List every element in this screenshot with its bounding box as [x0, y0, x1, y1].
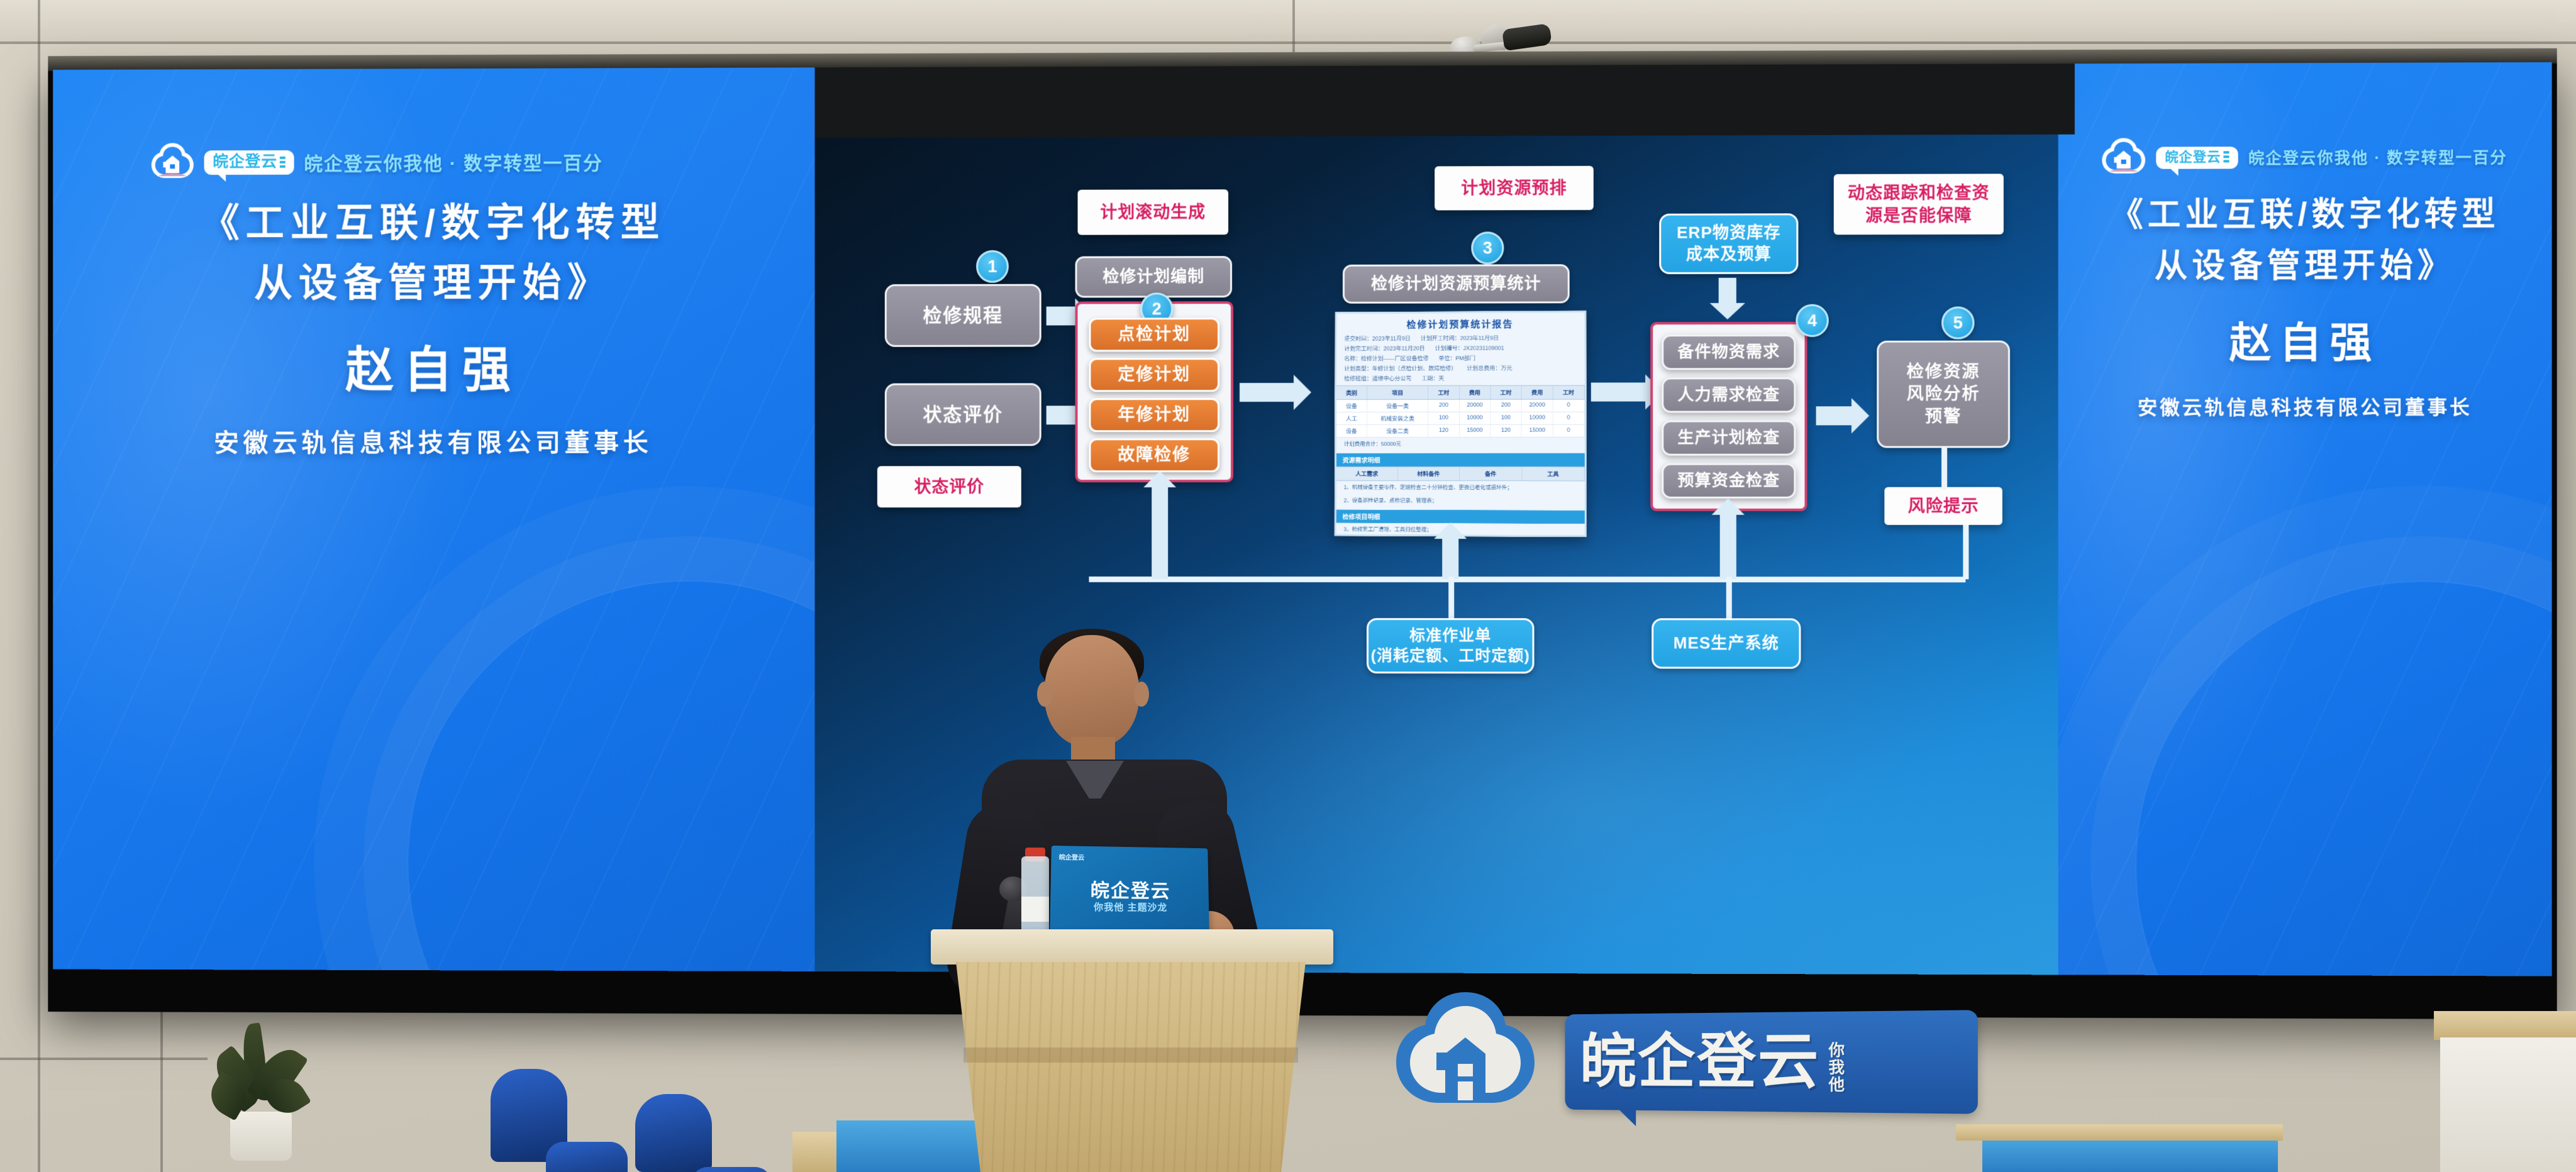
report-col-header: 工时: [1491, 386, 1522, 399]
report-cell: 人工: [1336, 412, 1367, 424]
plan-item-2[interactable]: 年修计划: [1089, 398, 1219, 432]
brand-logo-text: 皖企登云: [213, 153, 277, 170]
report-meta: 计划类型：年修计划（点检计划、故障检修）: [1344, 364, 1457, 373]
plant-pot: [230, 1112, 292, 1161]
left-speaker-org: 安徽云轨信息科技有限公司董事长: [53, 423, 814, 459]
arrow-assessment-to-plan: [1046, 406, 1077, 424]
report-sub-header: 人工需求: [1336, 467, 1398, 480]
cloud-house-logo-icon: [1390, 986, 1541, 1134]
chair-seat: [691, 1167, 772, 1172]
report-cell: 100: [1491, 412, 1522, 424]
report-band-resource: 资源需求明细: [1336, 453, 1585, 466]
report-cell: 100: [1428, 412, 1459, 424]
water-bottle-label: [1021, 897, 1049, 922]
chair-backrest: [635, 1094, 712, 1172]
stage-sign-side-text: 你我他: [1827, 1041, 1844, 1093]
brand-logo-pill: 皖企登云: [2156, 146, 2238, 169]
stage-sign-plate: 皖企登云 你我他: [1565, 1010, 1977, 1114]
stage-sign-main-text: 皖企登云: [1580, 1031, 1820, 1092]
report-note: 1、机械设备主要零件、定期检查二十分钟检查、更换已老化或损坏件；: [1336, 480, 1585, 495]
check-item-0[interactable]: 备件物资需求: [1662, 334, 1796, 370]
presenter-head: [1045, 635, 1139, 747]
report-sub-header: 备件: [1460, 467, 1522, 480]
report-cell: 120: [1428, 425, 1459, 437]
right-panel-logo-bar: 皖企登云 皖企登云你我他 · 数字转型一百分: [2101, 137, 2507, 177]
report-meta-list: 提交时间：2023年11月9日 计划开工时间：2023年11月9日 计划完工时间…: [1336, 333, 1584, 385]
report-meta: 计划开工时间：2023年11月9日: [1421, 334, 1499, 343]
right-title-line2: 从设备管理开始》: [2058, 240, 2552, 292]
report-meta: 计划总费用：万元: [1467, 364, 1512, 372]
podium-trim-band: [963, 1048, 1298, 1063]
podium-top-surface: [931, 929, 1333, 965]
laptop-title: 皖企登云: [1050, 875, 1209, 904]
right-panel-headline: 《工业互联/数字化转型 从设备管理开始》 赵自强 安徽云轨信息科技有限公司董事长: [2058, 189, 2552, 421]
report-column-headers: 类别 项目 工时 费用 工时 费用 工时: [1336, 385, 1584, 400]
step-5-badge: 5: [1941, 306, 1974, 339]
presenter-ear: [1134, 682, 1149, 707]
report-col-header: 工时: [1553, 385, 1585, 399]
table-row: 人工 机械安装之类 100 10000 100 10000 0: [1336, 412, 1585, 425]
callout-dynamic-tracking: 动态跟踪和检查资 源是否能保障: [1834, 174, 2004, 235]
laptop-logo-text: 皖企登云: [1059, 852, 1085, 861]
arrow-rules-to-plan: [1046, 307, 1077, 326]
report-cell: 设备一类: [1367, 400, 1428, 412]
report-meta: 单位：PM部门: [1438, 354, 1475, 362]
report-total: 计划费用合计：50000元: [1336, 438, 1585, 451]
node-plan-compilation[interactable]: 检修计划编制: [1075, 256, 1233, 297]
report-cell: 0: [1553, 425, 1585, 437]
report-cell: 10000: [1522, 412, 1553, 424]
report-meta: 计划完工时间：2023年11月20日: [1344, 344, 1424, 352]
arrow-budget-to-check: [1591, 382, 1646, 401]
risk-connector-stem: [1941, 448, 1947, 489]
report-meta: 名称：检修计划——厂区设备检修: [1344, 354, 1428, 362]
report-cell: 200: [1428, 400, 1459, 412]
left-panel-headline: 《工业互联/数字化转型 从设备管理开始》 赵自强 安徽云轨信息科技有限公司董事长: [53, 193, 814, 460]
podium-front-panel: [956, 962, 1306, 1172]
report-cell: 120: [1491, 425, 1522, 437]
presenter-ear: [1037, 682, 1052, 707]
report-sub-header: 材料备件: [1398, 467, 1460, 480]
brand-tagline: 皖企登云你我他 · 数字转型一百分: [2248, 145, 2507, 169]
report-col-header: 费用: [1522, 385, 1553, 399]
node-condition-assessment[interactable]: 状态评价: [885, 383, 1041, 446]
slide-topbar: [814, 64, 2074, 138]
left-panel-logo-bar: 皖企登云 皖企登云你我他 · 数字转型一百分: [151, 142, 603, 182]
arrow-erp-to-check: [1719, 278, 1736, 304]
rail-stem-right: [1963, 525, 1968, 579]
conference-hall-scene: 皖企登云 皖企登云你我他 · 数字转型一百分 《工业互联/数字化转型 从设备管理…: [0, 0, 2576, 1172]
presenter-laptop[interactable]: 皖企登云 皖企登云 你我他 主题沙龙: [1050, 846, 1209, 936]
report-cell: 设备二类: [1367, 425, 1428, 437]
report-cell: 0: [1553, 399, 1585, 411]
node-risk-analysis[interactable]: 检修资源 风险分析 预警: [1877, 341, 2010, 448]
report-cell: 0: [1553, 412, 1585, 424]
table-row: 设备 设备一类 200 20000 200 20000 0: [1336, 399, 1584, 412]
side-desk: [2434, 1011, 2576, 1040]
plan-item-0[interactable]: 点检计划: [1089, 318, 1219, 351]
report-col-header: 费用: [1460, 386, 1491, 399]
laptop-subtitle: 你我他 主题沙龙: [1050, 900, 1209, 914]
callout-risk-alert: 风险提示: [1884, 487, 2002, 525]
node-budget-statistics[interactable]: 检修计划资源预算统计: [1343, 264, 1570, 304]
led-video-wall: 皖企登云 皖企登云你我他 · 数字转型一百分 《工业互联/数字化转型 从设备管理…: [48, 62, 2557, 1019]
right-speaker-name: 赵自强: [2058, 309, 2552, 370]
arrow-check-to-risk: [1816, 406, 1853, 425]
report-band-items: 检修项目明细: [1336, 509, 1585, 523]
report-meta: 提交时间：2023年11月9日: [1344, 334, 1411, 342]
front-desk-panel: [1982, 1136, 2278, 1172]
video-wall-screen: 皖企登云 皖企登云你我他 · 数字转型一百分 《工业互联/数字化转型 从设备管理…: [53, 62, 2551, 976]
ceiling: [0, 0, 2576, 41]
callout-condition-assessment: 状态评价: [877, 466, 1021, 507]
report-sub-headers: 人工需求 材料备件 备件 工具: [1336, 466, 1585, 481]
report-col-header: 类别: [1336, 386, 1367, 399]
left-title-line2: 从设备管理开始》: [53, 253, 814, 314]
node-erp-inventory[interactable]: ERP物资库存 成本及预算: [1659, 213, 1798, 274]
left-title-panel: 皖企登云 皖企登云你我他 · 数字转型一百分 《工业互联/数字化转型 从设备管理…: [53, 67, 814, 971]
report-note: 2、设备巡检记录、点检记录、管理表；: [1336, 494, 1585, 509]
report-title: 检修计划预算统计报告: [1337, 317, 1585, 331]
arrow-up-to-report: [1442, 538, 1458, 579]
right-title-panel: 皖企登云 皖企登云你我他 · 数字转型一百分 《工业互联/数字化转型 从设备管理…: [2058, 62, 2552, 976]
step-4-badge: 4: [1796, 304, 1828, 337]
cloud-house-logo-icon: [2101, 138, 2146, 178]
right-title-line1: 《工业互联/数字化转型: [2058, 189, 2552, 241]
brand-logo-text: 皖企登云: [2165, 150, 2221, 164]
report-cell: 15000: [1522, 425, 1553, 437]
water-bottle: [1021, 856, 1049, 936]
report-cell: 200: [1491, 400, 1522, 412]
report-cell: 20000: [1522, 400, 1553, 412]
side-desk-panel: [2440, 1037, 2576, 1172]
arrow-up-to-plan-group: [1152, 486, 1168, 579]
plan-item-3[interactable]: 故障检修: [1089, 438, 1219, 472]
callout-resource-schedule: 计划资源预排: [1435, 166, 1594, 211]
mes-stem: [1726, 577, 1732, 621]
bottom-rail: [1089, 577, 1965, 582]
wall-seam-horizontal: [0, 41, 2576, 44]
report-sub-header: 工具: [1522, 467, 1585, 480]
node-mes-system[interactable]: MES生产系统: [1652, 618, 1801, 668]
report-col-header: 工时: [1428, 386, 1459, 399]
arrow-up-to-check-group: [1720, 514, 1736, 579]
brand-logo-pill: 皖企登云: [204, 150, 294, 174]
table-row: 设备 设备二类 120 15000 120 15000 0: [1336, 425, 1585, 438]
right-speaker-org: 安徽云轨信息科技有限公司董事长: [2058, 391, 2552, 420]
budget-report-screenshot[interactable]: 检修计划预算统计报告 提交时间：2023年11月9日 计划开工时间：2023年1…: [1335, 311, 1587, 537]
report-cell: 设备: [1336, 400, 1367, 412]
report-cell: 10000: [1460, 412, 1491, 424]
check-item-3[interactable]: 预算资金检查: [1662, 463, 1796, 499]
check-item-2[interactable]: 生产计划检查: [1662, 420, 1796, 455]
report-cell: 机械安装之类: [1367, 412, 1428, 424]
report-cell: 15000: [1460, 425, 1491, 437]
brand-tagline: 皖企登云你我他 · 数字转型一百分: [304, 148, 602, 176]
node-standard-work-order[interactable]: 标准作业单 (消耗定额、工时定额): [1367, 618, 1534, 673]
report-cell: 设备: [1336, 425, 1367, 437]
wall-seam-vertical: [38, 0, 40, 1172]
left-speaker-name: 赵自强: [53, 331, 814, 402]
step-1-badge: 1: [976, 250, 1009, 283]
report-meta: 工期：天: [1421, 374, 1444, 382]
potted-plant: [195, 1020, 314, 1161]
stage-brand-sign: 皖企登云 你我他: [1390, 986, 2025, 1162]
report-meta: 检修班组：运维中心分公司: [1344, 374, 1411, 382]
check-item-1[interactable]: 人力需求检查: [1662, 377, 1796, 412]
chair-seat: [546, 1142, 628, 1172]
node-inspection-rules[interactable]: 检修规程: [885, 284, 1041, 347]
report-cell: 20000: [1460, 400, 1491, 412]
callout-rolling-plan: 计划滚动生成: [1078, 189, 1229, 235]
speaker-podium: 皖企登云 皖企登云 你我他 主题沙龙: [931, 929, 1333, 1172]
wall-seam-horizontal: [0, 1058, 208, 1060]
left-title-line1: 《工业互联/数字化转型: [53, 193, 814, 255]
cloud-house-logo-icon: [151, 143, 194, 182]
report-meta: 计划编号：JX20231109001: [1435, 344, 1504, 352]
step-3-badge: 3: [1471, 231, 1504, 264]
report-col-header: 项目: [1367, 386, 1428, 399]
arrow-plan-to-budget: [1240, 383, 1295, 402]
standard-order-stem: [1448, 577, 1454, 621]
plan-item-1[interactable]: 定修计划: [1089, 358, 1219, 392]
podium-wood-grain: [956, 962, 1306, 1172]
